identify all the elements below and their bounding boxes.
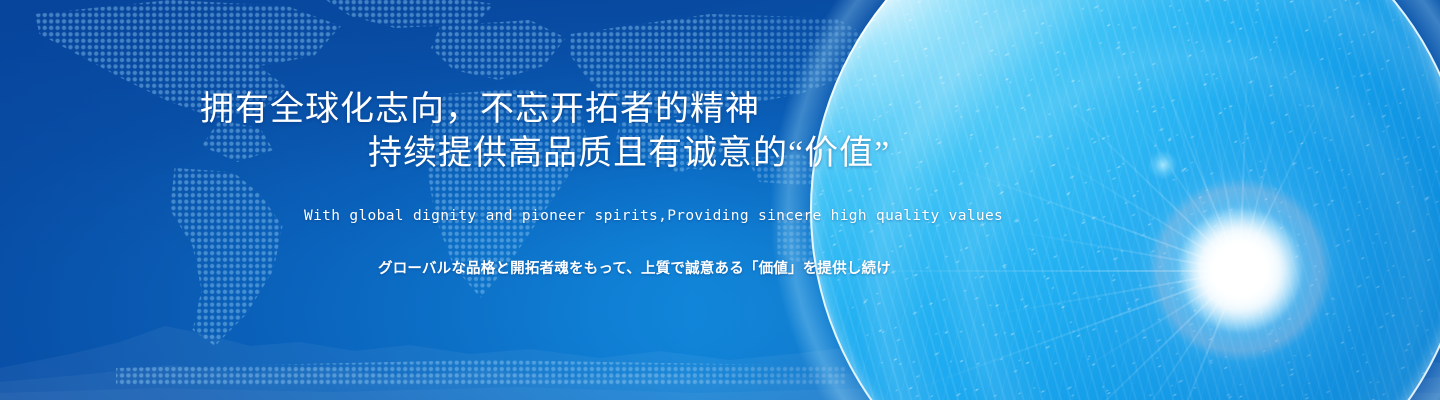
headline-line-1: 拥有全球化志向，不忘开拓者的精神 — [200, 88, 760, 132]
headline-line-2: 持续提供高品质且有诚意的“价值” — [368, 132, 890, 176]
lens-flare-orb — [1148, 150, 1178, 180]
hero-banner: 拥有全球化志向，不忘开拓者的精神 持续提供高品质且有诚意的“价值” With g… — [0, 0, 1440, 400]
subtitle-japanese: グローバルな品格と開拓者魂をもって、上質で誠意ある「価値」を提供し続け — [378, 259, 891, 280]
subtitle-english: With global dignity and pioneer spirits,… — [304, 206, 1003, 226]
